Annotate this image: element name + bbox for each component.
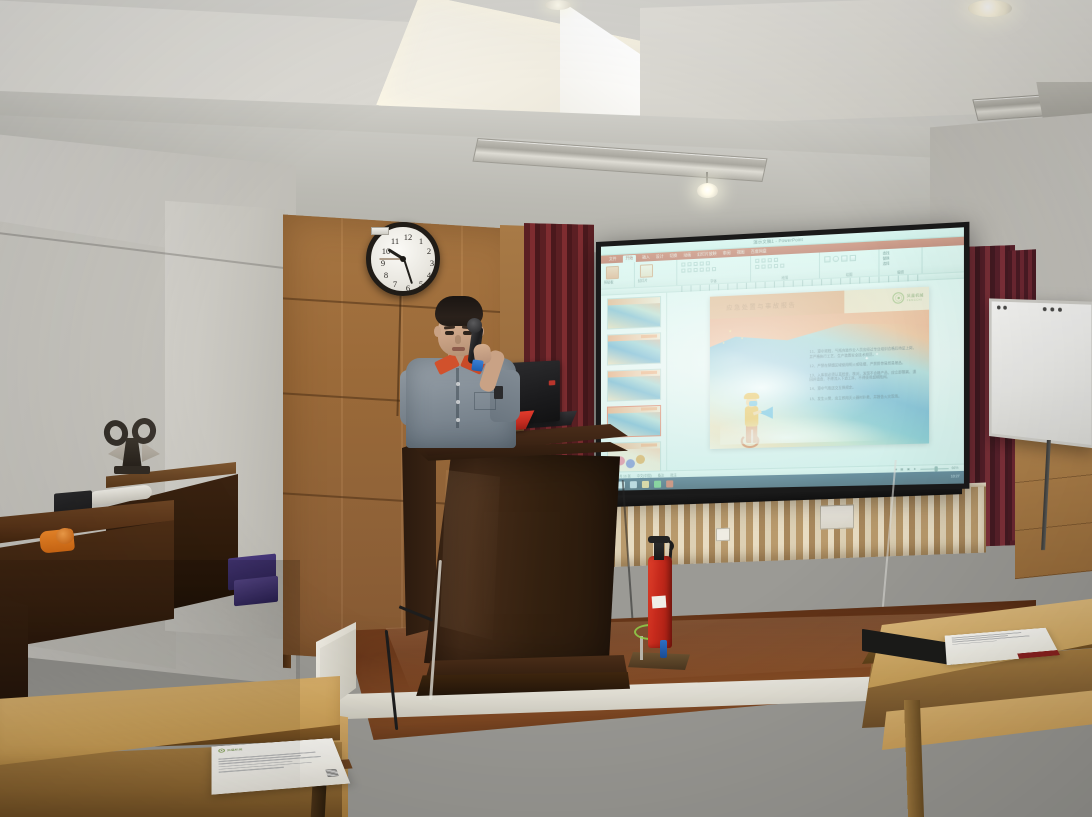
thumbnail-preview bbox=[608, 370, 660, 401]
ribbon-group-drawing[interactable]: 绘图 bbox=[820, 249, 879, 278]
increase-indent-icon[interactable] bbox=[773, 258, 777, 262]
magnet-icon[interactable] bbox=[1058, 308, 1062, 312]
clear-format-icon[interactable] bbox=[705, 261, 709, 265]
slide-paragraph: 12、严禁在禁烟区域使用明火或吸烟，严禁携带易燃易爆品。 bbox=[809, 360, 916, 369]
slide-thumbnail[interactable]: 6 bbox=[607, 332, 661, 365]
slide-canvas[interactable]: 应急处置与事故报告 ⦿ 凤凰机械 FENGCHI ★ ★ bbox=[667, 278, 964, 487]
extinguisher-nozzle bbox=[660, 640, 667, 658]
projected-desktop[interactable]: 演示文稿1 - PowerPoint 文件 开始 插入 设计 切换 动画 幻灯片… bbox=[601, 227, 964, 491]
slide-paragraph: 13、入库前必须认真检查、核对，发现不合格产品，应立即隔离、退回并追查，不得流入… bbox=[809, 369, 916, 382]
align-left-icon[interactable] bbox=[755, 265, 759, 269]
clock-numeral: 4 bbox=[427, 270, 431, 280]
id-badge bbox=[494, 386, 503, 399]
laptop-logo-icon bbox=[549, 380, 556, 385]
qr-code-icon bbox=[325, 769, 339, 777]
room-photo-scene: 12 1 2 3 4 5 6 7 8 9 10 11 演示文稿1 - Power… bbox=[0, 0, 1092, 817]
clock-numeral: 12 bbox=[404, 232, 413, 242]
slide-paragraph: 15、发生火警，应立即用灭火器材扑救，并报告火灾现场。 bbox=[809, 393, 916, 401]
nose bbox=[455, 335, 461, 344]
magnet-icon[interactable] bbox=[1003, 306, 1007, 310]
task-view-icon[interactable] bbox=[630, 481, 637, 488]
new-slide-button[interactable] bbox=[640, 264, 653, 278]
ribbon-group-font[interactable]: 字体 bbox=[677, 256, 751, 285]
clock-numeral: 7 bbox=[393, 279, 397, 289]
strikethrough-icon[interactable] bbox=[699, 268, 703, 272]
font-color-icon[interactable] bbox=[711, 267, 715, 271]
slide-paragraph: 14、遵守气瓶送交互换规定。 bbox=[809, 384, 916, 392]
ribbon-tab-design[interactable]: 设计 bbox=[656, 254, 664, 259]
zoom-slider[interactable] bbox=[920, 468, 948, 470]
clock-date-window bbox=[371, 227, 389, 235]
logo-text: 凤凰机械 FENGCHI bbox=[907, 293, 924, 302]
podium-sheen bbox=[440, 470, 500, 640]
extinguisher-label bbox=[652, 596, 667, 609]
align-center-icon[interactable] bbox=[761, 265, 765, 269]
app-title: 演示文稿1 - PowerPoint bbox=[753, 237, 803, 246]
shapes-gallery[interactable] bbox=[823, 253, 875, 263]
clock-center-pin bbox=[400, 256, 406, 262]
shirt-button bbox=[456, 400, 460, 404]
mouth bbox=[452, 347, 465, 351]
current-slide[interactable]: 应急处置与事故报告 ⦿ 凤凰机械 FENGCHI ★ ★ bbox=[710, 287, 929, 449]
ribbon-tab-file[interactable]: 文件 bbox=[609, 256, 617, 261]
powerpoint-icon[interactable] bbox=[666, 480, 673, 487]
company-logo: ⦿ 凤凰机械 FENGCHI bbox=[893, 291, 924, 304]
explorer-icon[interactable] bbox=[642, 480, 649, 487]
star-icon: ★ bbox=[741, 336, 744, 340]
logo-mark-icon: ⦿ bbox=[218, 748, 225, 752]
clock-face: 12 1 2 3 4 5 6 7 8 9 10 11 bbox=[366, 222, 440, 296]
clock-numeral: 2 bbox=[427, 246, 431, 256]
clock-numeral: 6 bbox=[406, 283, 410, 293]
clock-numeral: 3 bbox=[430, 258, 434, 268]
whiteboard[interactable] bbox=[989, 298, 1092, 448]
zoom-slider-knob[interactable] bbox=[934, 466, 937, 471]
clock-minute-hand bbox=[403, 259, 413, 284]
slide-body: ★ ★ ★ ✦ ✦ bbox=[710, 310, 929, 449]
purple-storage-box bbox=[234, 576, 278, 607]
sculpture-base bbox=[114, 466, 150, 474]
sculpture-wing bbox=[142, 442, 160, 462]
wall-socket bbox=[820, 504, 854, 529]
slide-title: 应急处置与事故报告 bbox=[726, 300, 796, 312]
comments-button[interactable]: 批注 bbox=[670, 472, 676, 477]
clock-numeral: 11 bbox=[391, 236, 399, 246]
star-icon: ★ bbox=[728, 328, 732, 333]
podium-side-panel bbox=[402, 436, 436, 636]
projector-screen[interactable]: 演示文稿1 - PowerPoint 文件 开始 插入 设计 切换 动画 幻灯片… bbox=[596, 222, 969, 496]
line-spacing-icon[interactable] bbox=[780, 264, 784, 268]
ribbon-group-clipboard[interactable]: 剪贴板 bbox=[601, 262, 635, 289]
align-right-icon[interactable] bbox=[767, 264, 771, 268]
taskbar-clock[interactable]: 10:27 bbox=[951, 474, 960, 478]
magnet-icon[interactable] bbox=[1043, 307, 1047, 311]
ceiling-downlight bbox=[545, 0, 571, 10]
clock-numeral: 5 bbox=[419, 279, 423, 289]
ribbon-tab-home[interactable]: 开始 bbox=[622, 254, 636, 262]
handout-company-name: 凤凰机械 bbox=[227, 747, 243, 751]
underline-icon[interactable] bbox=[693, 268, 697, 272]
ear bbox=[434, 326, 441, 337]
hard-hat-icon bbox=[744, 393, 760, 400]
bullets-icon[interactable] bbox=[755, 259, 759, 263]
italic-icon[interactable] bbox=[687, 268, 691, 272]
paste-button[interactable] bbox=[606, 265, 619, 279]
magnet-icon[interactable] bbox=[997, 305, 1001, 309]
increase-font-icon[interactable] bbox=[693, 262, 697, 266]
character-mask bbox=[749, 401, 757, 406]
select-button[interactable]: 选择 bbox=[883, 259, 919, 266]
clock-numeral: 9 bbox=[381, 258, 385, 268]
extinguisher-handle[interactable] bbox=[648, 536, 670, 543]
ribbon-group-slides[interactable]: 幻灯片 bbox=[635, 260, 677, 287]
star-icon: ★ bbox=[722, 341, 725, 345]
shirt-button bbox=[456, 418, 460, 422]
decrease-indent-icon[interactable] bbox=[767, 258, 771, 262]
wall-clock: 12 1 2 3 4 5 6 7 8 9 10 11 bbox=[366, 222, 440, 296]
logo-name-en: FENGCHI bbox=[907, 298, 924, 302]
eye bbox=[445, 331, 454, 335]
presenter bbox=[398, 296, 528, 446]
shape-arrow-icon[interactable] bbox=[841, 255, 847, 262]
bold-icon[interactable] bbox=[681, 269, 685, 273]
thumbnail-preview bbox=[608, 333, 660, 364]
thumbnail-preview bbox=[608, 297, 660, 328]
font-size-box[interactable] bbox=[687, 262, 691, 266]
view-reading-icon[interactable]: ▣ bbox=[907, 467, 910, 471]
microphone-blue-band bbox=[471, 359, 483, 371]
trophy-sculpture bbox=[104, 418, 166, 480]
clock-numeral: 8 bbox=[384, 270, 388, 280]
wall-socket bbox=[716, 528, 730, 541]
ribbon-tab-view[interactable]: 视图 bbox=[737, 250, 745, 256]
justify-icon[interactable] bbox=[773, 264, 777, 268]
zoom-level[interactable]: 66% bbox=[952, 466, 959, 470]
clock-numeral: 1 bbox=[419, 236, 423, 246]
ribbon-tab-slideshow[interactable]: 幻灯片放映 bbox=[697, 251, 716, 257]
shirt-button bbox=[456, 382, 460, 386]
numbering-icon[interactable] bbox=[761, 258, 765, 262]
ribbon-tab-review[interactable]: 审阅 bbox=[723, 250, 731, 255]
magnet-icon[interactable] bbox=[1050, 307, 1054, 311]
decrease-font-icon[interactable] bbox=[699, 262, 703, 266]
notes-button[interactable]: 备注 bbox=[658, 472, 664, 477]
shape-rect-icon[interactable] bbox=[824, 256, 830, 263]
ribbon-tab-transitions[interactable]: 切换 bbox=[670, 253, 678, 258]
wechat-icon[interactable] bbox=[654, 480, 661, 487]
extinguisher-base-plate bbox=[628, 652, 690, 670]
view-sorter-icon[interactable]: ▦ bbox=[900, 467, 903, 471]
language-indicator[interactable]: 中文(中国) bbox=[637, 472, 652, 477]
shadow-icon[interactable] bbox=[705, 267, 709, 271]
ribbon-tab-insert[interactable]: 插入 bbox=[642, 255, 650, 260]
ribbon-group-editing[interactable]: 查找 替换 选择 编辑 bbox=[880, 247, 923, 275]
ribbon-group-paragraph[interactable]: 段落 bbox=[751, 253, 820, 282]
shirt-pocket bbox=[474, 392, 496, 410]
shape-oval-icon[interactable] bbox=[832, 256, 838, 263]
slide-text-column: 11、遵守规程，气瓶充装作业人员应经过专业培训合格后持证上岗，并严格执行工艺、生… bbox=[809, 346, 916, 406]
shape-line-icon[interactable] bbox=[849, 255, 855, 262]
slide-thumbnail[interactable]: 7 bbox=[607, 369, 661, 402]
ribbon-group-label-slides: 幻灯片 bbox=[638, 277, 673, 284]
ceiling-downlight bbox=[968, 0, 1012, 17]
slide-thumbnail[interactable]: 5 bbox=[607, 296, 661, 330]
ribbon-group-label-clipboard: 剪贴板 bbox=[604, 279, 631, 285]
slide-paragraph: 11、遵守规程，气瓶充装作业人员应经过专业培训合格后持证上岗，并严格执行工艺、生… bbox=[809, 346, 916, 360]
slide-cloud-graphic bbox=[720, 413, 888, 444]
extinguisher-stand bbox=[640, 636, 643, 660]
slideshow-icon[interactable]: ► bbox=[913, 467, 916, 471]
pendant-light bbox=[697, 183, 718, 198]
ribbon-tab-animations[interactable]: 动画 bbox=[683, 253, 691, 258]
logo-mark-icon: ⦿ bbox=[893, 292, 905, 304]
font-name-box[interactable] bbox=[681, 262, 685, 266]
ribbon-tab-baidu[interactable]: 百度网盘 bbox=[751, 249, 767, 255]
